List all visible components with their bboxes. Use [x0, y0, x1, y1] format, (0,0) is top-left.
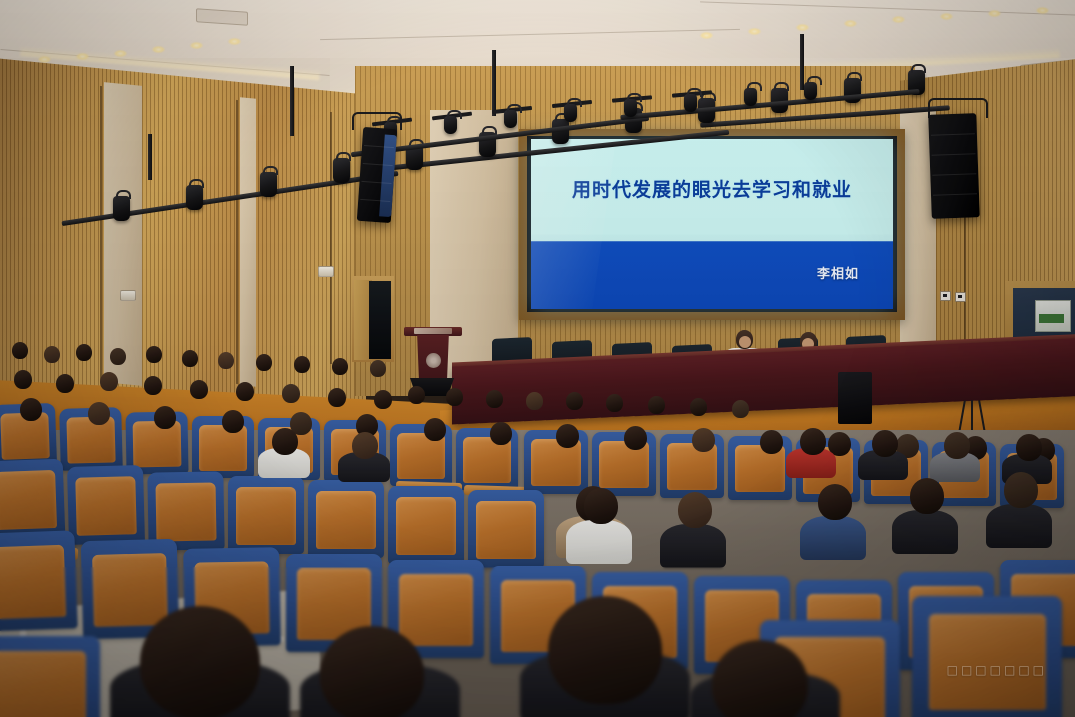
audience-head — [408, 386, 425, 404]
wall-panel-seam — [236, 100, 238, 384]
wall-light-fixture — [318, 266, 334, 277]
audience-head — [190, 380, 208, 399]
auditorium-seat-foreground[interactable] — [0, 636, 100, 717]
audience-head — [222, 410, 244, 433]
stage-light — [564, 104, 577, 122]
speaker-cell-divider — [932, 153, 976, 156]
audience-head — [110, 348, 126, 365]
seat-wood-panel — [0, 651, 86, 717]
wall-outlet[interactable] — [940, 291, 951, 301]
podium-nameplate — [414, 328, 452, 334]
seat-wood-panel — [0, 470, 57, 530]
speaker-cell-divider — [932, 173, 976, 176]
seat-wood-panel — [236, 487, 295, 545]
audience-head — [526, 392, 543, 410]
audience-head — [76, 344, 92, 361]
stage-light — [804, 82, 817, 100]
audience-head — [424, 418, 446, 441]
auditorium-seat[interactable] — [468, 490, 544, 568]
audience-head — [1016, 434, 1042, 461]
truss-drop-rod — [148, 134, 152, 180]
stage-light — [260, 172, 277, 197]
speaker-cell-divider — [931, 133, 975, 136]
auditorium-seat[interactable] — [0, 530, 78, 631]
truss-drop-rod — [290, 66, 294, 136]
audience-head — [446, 388, 463, 406]
auditorium-seat[interactable] — [0, 459, 65, 540]
ceiling-downlight — [114, 50, 127, 57]
audience-head — [732, 400, 749, 418]
ceiling-downlight — [892, 16, 905, 23]
wall-outlet[interactable] — [955, 292, 966, 302]
audience-head — [1004, 472, 1038, 508]
seat-wood-panel — [132, 420, 181, 467]
seat-wood-panel — [396, 497, 455, 555]
audience-head — [370, 360, 386, 377]
photo-watermark: □□□□□□□ — [947, 663, 1047, 677]
audience-head — [486, 390, 503, 408]
audience-head — [146, 346, 162, 363]
seat-wood-panel — [0, 544, 67, 619]
projection-screen: 用时代发展的眼光去学习和就业 李相如 — [531, 139, 893, 309]
line-array-speaker-left — [357, 127, 397, 223]
auditorium-seat[interactable] — [228, 476, 304, 554]
stage-light — [444, 116, 457, 134]
audience-head — [14, 370, 32, 389]
audience-head — [218, 352, 234, 369]
seat-wood-panel — [66, 416, 116, 463]
audience-head — [44, 346, 60, 363]
wall-pilaster — [104, 82, 142, 386]
wall-panel-seam — [330, 112, 332, 364]
stage-light — [504, 110, 517, 128]
seat-wood-panel — [156, 482, 216, 541]
auditorium-photo: 用时代发展的眼光去学习和就业 李相如 — [0, 0, 1075, 717]
audience-head — [584, 488, 618, 524]
audience-head — [910, 478, 944, 514]
truss-drop-rod — [800, 34, 804, 90]
stage-light — [684, 94, 697, 112]
ceiling-downlight — [700, 32, 713, 39]
wall-light-fixture — [120, 290, 136, 301]
audience-head — [56, 374, 74, 393]
audience-shoulders — [892, 510, 958, 554]
audience-head — [800, 428, 826, 455]
ceiling-downlight — [76, 53, 89, 60]
poster-band — [1039, 314, 1064, 323]
ceiling-downlight — [748, 28, 761, 35]
audience-head — [256, 354, 272, 371]
auditorium-seat[interactable] — [308, 480, 384, 558]
ceiling-downlight — [940, 13, 953, 20]
audience-head — [648, 396, 665, 414]
audience-head — [332, 358, 348, 375]
audience-head — [100, 372, 118, 391]
ceiling-downlight — [988, 10, 1001, 17]
stage-person-face — [739, 336, 751, 348]
stage-light — [624, 99, 637, 117]
stage-light — [186, 185, 203, 210]
audience-head — [872, 430, 898, 457]
ceiling-downlight — [190, 42, 203, 49]
audience-head — [678, 492, 712, 528]
audience-head — [818, 484, 852, 520]
truss-drop-rod — [492, 50, 496, 116]
audience-head — [282, 384, 300, 403]
seat-wood-panel — [92, 553, 169, 627]
stage-light — [744, 88, 757, 106]
seat-wood-panel — [399, 574, 474, 647]
audience-head — [606, 394, 623, 412]
speaker-cell-divider — [933, 193, 977, 196]
ceiling-downlight — [796, 24, 809, 31]
audience-head — [624, 426, 647, 450]
audience-shoulders — [986, 504, 1052, 548]
ceiling-downlight — [152, 46, 165, 53]
audience-head — [692, 428, 715, 452]
audience-head — [374, 390, 392, 409]
audience-shoulders — [566, 520, 632, 564]
audience-foreground-head — [140, 606, 260, 717]
audience-head — [144, 376, 162, 395]
audience-shoulders — [660, 524, 726, 568]
audience-head — [12, 342, 28, 359]
seat-wood-panel — [476, 501, 535, 559]
auditorium-seat[interactable] — [67, 465, 145, 545]
ceiling-downlight — [228, 38, 241, 45]
line-array-speaker-right — [928, 113, 980, 219]
audience-head — [88, 402, 110, 425]
stage-light — [113, 196, 130, 221]
door-left-opening[interactable] — [369, 281, 391, 359]
stage-light — [333, 158, 350, 183]
audience-foreground-head — [548, 596, 662, 704]
seat-wood-panel — [316, 491, 375, 549]
audience-shoulders — [800, 516, 866, 560]
wall-pilaster — [240, 97, 256, 386]
stage-subwoofer — [838, 372, 872, 424]
slide-author: 李相如 — [817, 263, 859, 282]
ceiling-downlight — [844, 20, 857, 27]
audience-head — [272, 428, 298, 455]
audience-head — [20, 398, 42, 421]
seat-wood-panel — [199, 425, 247, 471]
audience-foreground-head — [320, 626, 424, 717]
audience-head — [154, 406, 176, 429]
audience-head — [690, 398, 707, 416]
audience-head — [236, 382, 254, 401]
auditorium-seat[interactable] — [388, 486, 464, 564]
audience-head — [566, 392, 583, 410]
audience-head — [760, 430, 783, 454]
ceiling-downlight — [1036, 7, 1049, 14]
audience-head — [294, 356, 310, 373]
podium-emblem-icon — [426, 353, 441, 368]
audience-head — [490, 422, 512, 445]
audience-head — [944, 432, 970, 459]
auditorium-seat-foreground[interactable] — [912, 596, 1062, 717]
seat-wood-panel — [76, 476, 137, 535]
screen-glare — [531, 139, 617, 309]
audience-head — [328, 388, 346, 407]
audience-head — [182, 350, 198, 367]
audience-head — [352, 432, 378, 459]
audience-head — [556, 424, 579, 448]
wall-panel-seam — [100, 86, 102, 382]
